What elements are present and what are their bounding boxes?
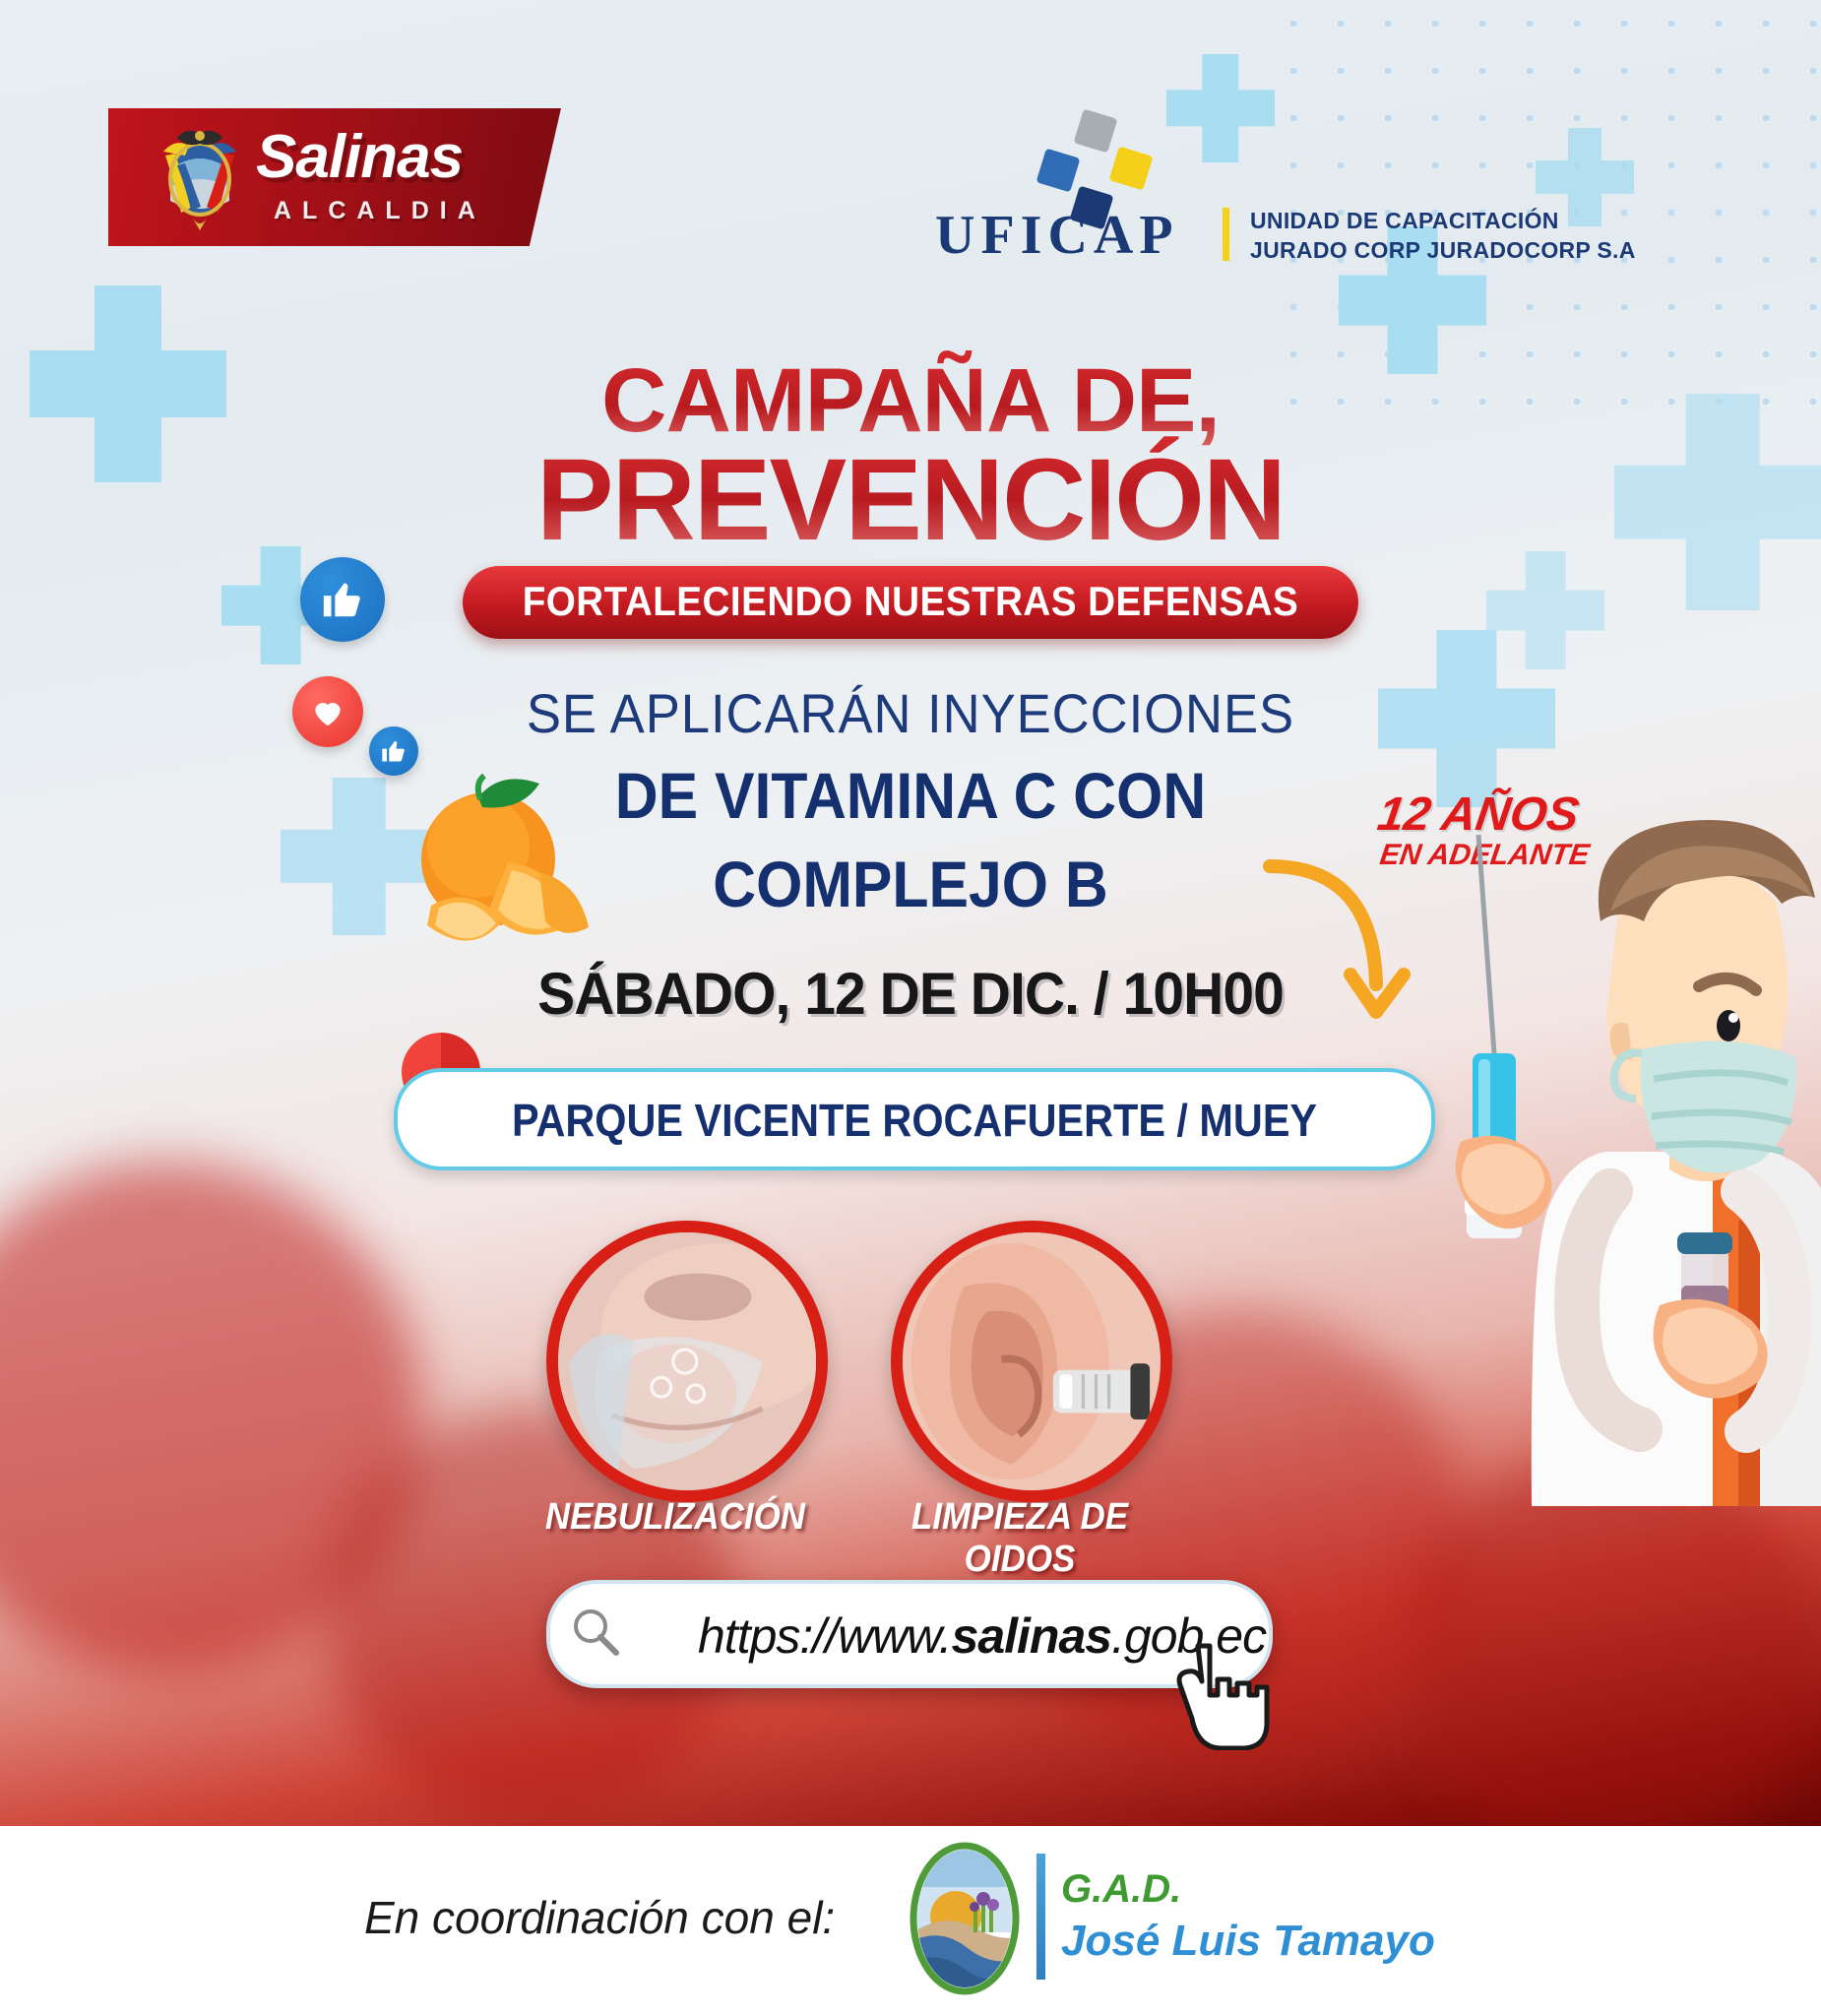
uficap-divider [1223,208,1229,261]
salinas-subtitle: ALCALDIA [274,197,486,225]
cross-icon [1486,551,1604,669]
ribbon-label: FORTALECIENDO NUESTRAS DEFENSAS [498,578,1322,625]
service-label-limpieza-oidos: LIMPIEZA DE OIDOS [856,1496,1182,1581]
gad-divider [1036,1854,1045,1980]
website-search-bar[interactable]: https://www.salinas.gob.ec [546,1580,1273,1688]
uficap-subtitle-line1: UNIDAD DE CAPACITACIÓN [1250,208,1559,234]
doctor-illustration [1417,728,1821,1506]
ecuador-coat-of-arms-icon [156,122,244,232]
poster-footer: En coordinación con el: G.A.D. José Lui [0,1826,1821,2016]
hand-cursor-icon [1176,1642,1271,1750]
thumbs-up-reaction-icon [300,557,385,642]
uficap-diamonds-icon [1038,113,1147,212]
gad-acronym: G.A.D. [1061,1867,1181,1912]
search-icon [571,1606,620,1656]
gad-jose-luis-tamayo-logo-icon [901,1840,1029,1997]
campaign-poster: Salinas ALCALDIA UFICAP UNIDAD DE CAPACI… [0,0,1821,2016]
service-photo-limpieza-oidos [891,1221,1172,1502]
salinas-logo[interactable]: Salinas ALCALDIA [108,108,561,246]
uficap-logo[interactable]: UFICAP UNIDAD DE CAPACITACIÓN JURADO COR… [935,113,1664,261]
gad-name: José Luis Tamayo [1061,1917,1435,1966]
poster-artboard: Salinas ALCALDIA UFICAP UNIDAD DE CAPACI… [0,0,1821,1826]
event-location-label: PARQUE VICENTE ROCAFUERTE / MUEY [450,1094,1380,1147]
service-photo-nebulizacion [546,1221,828,1502]
uficap-subtitle-line2: JURADO CORP JURADOCORP S.A [1250,237,1636,264]
headline-ribbon: FORTALECIENDO NUESTRAS DEFENSAS [463,566,1358,639]
salinas-wordmark: Salinas [256,122,463,192]
event-location-pill[interactable]: PARQUE VICENTE ROCAFUERTE / MUEY [394,1068,1435,1170]
headline-line-2: PREVENCIÓN [0,433,1821,567]
uficap-acronym: UFICAP [935,204,1179,267]
coordination-text: En coordinación con el: [364,1891,835,1944]
service-label-nebulizacion: NEBULIZACIÓN [512,1496,838,1539]
